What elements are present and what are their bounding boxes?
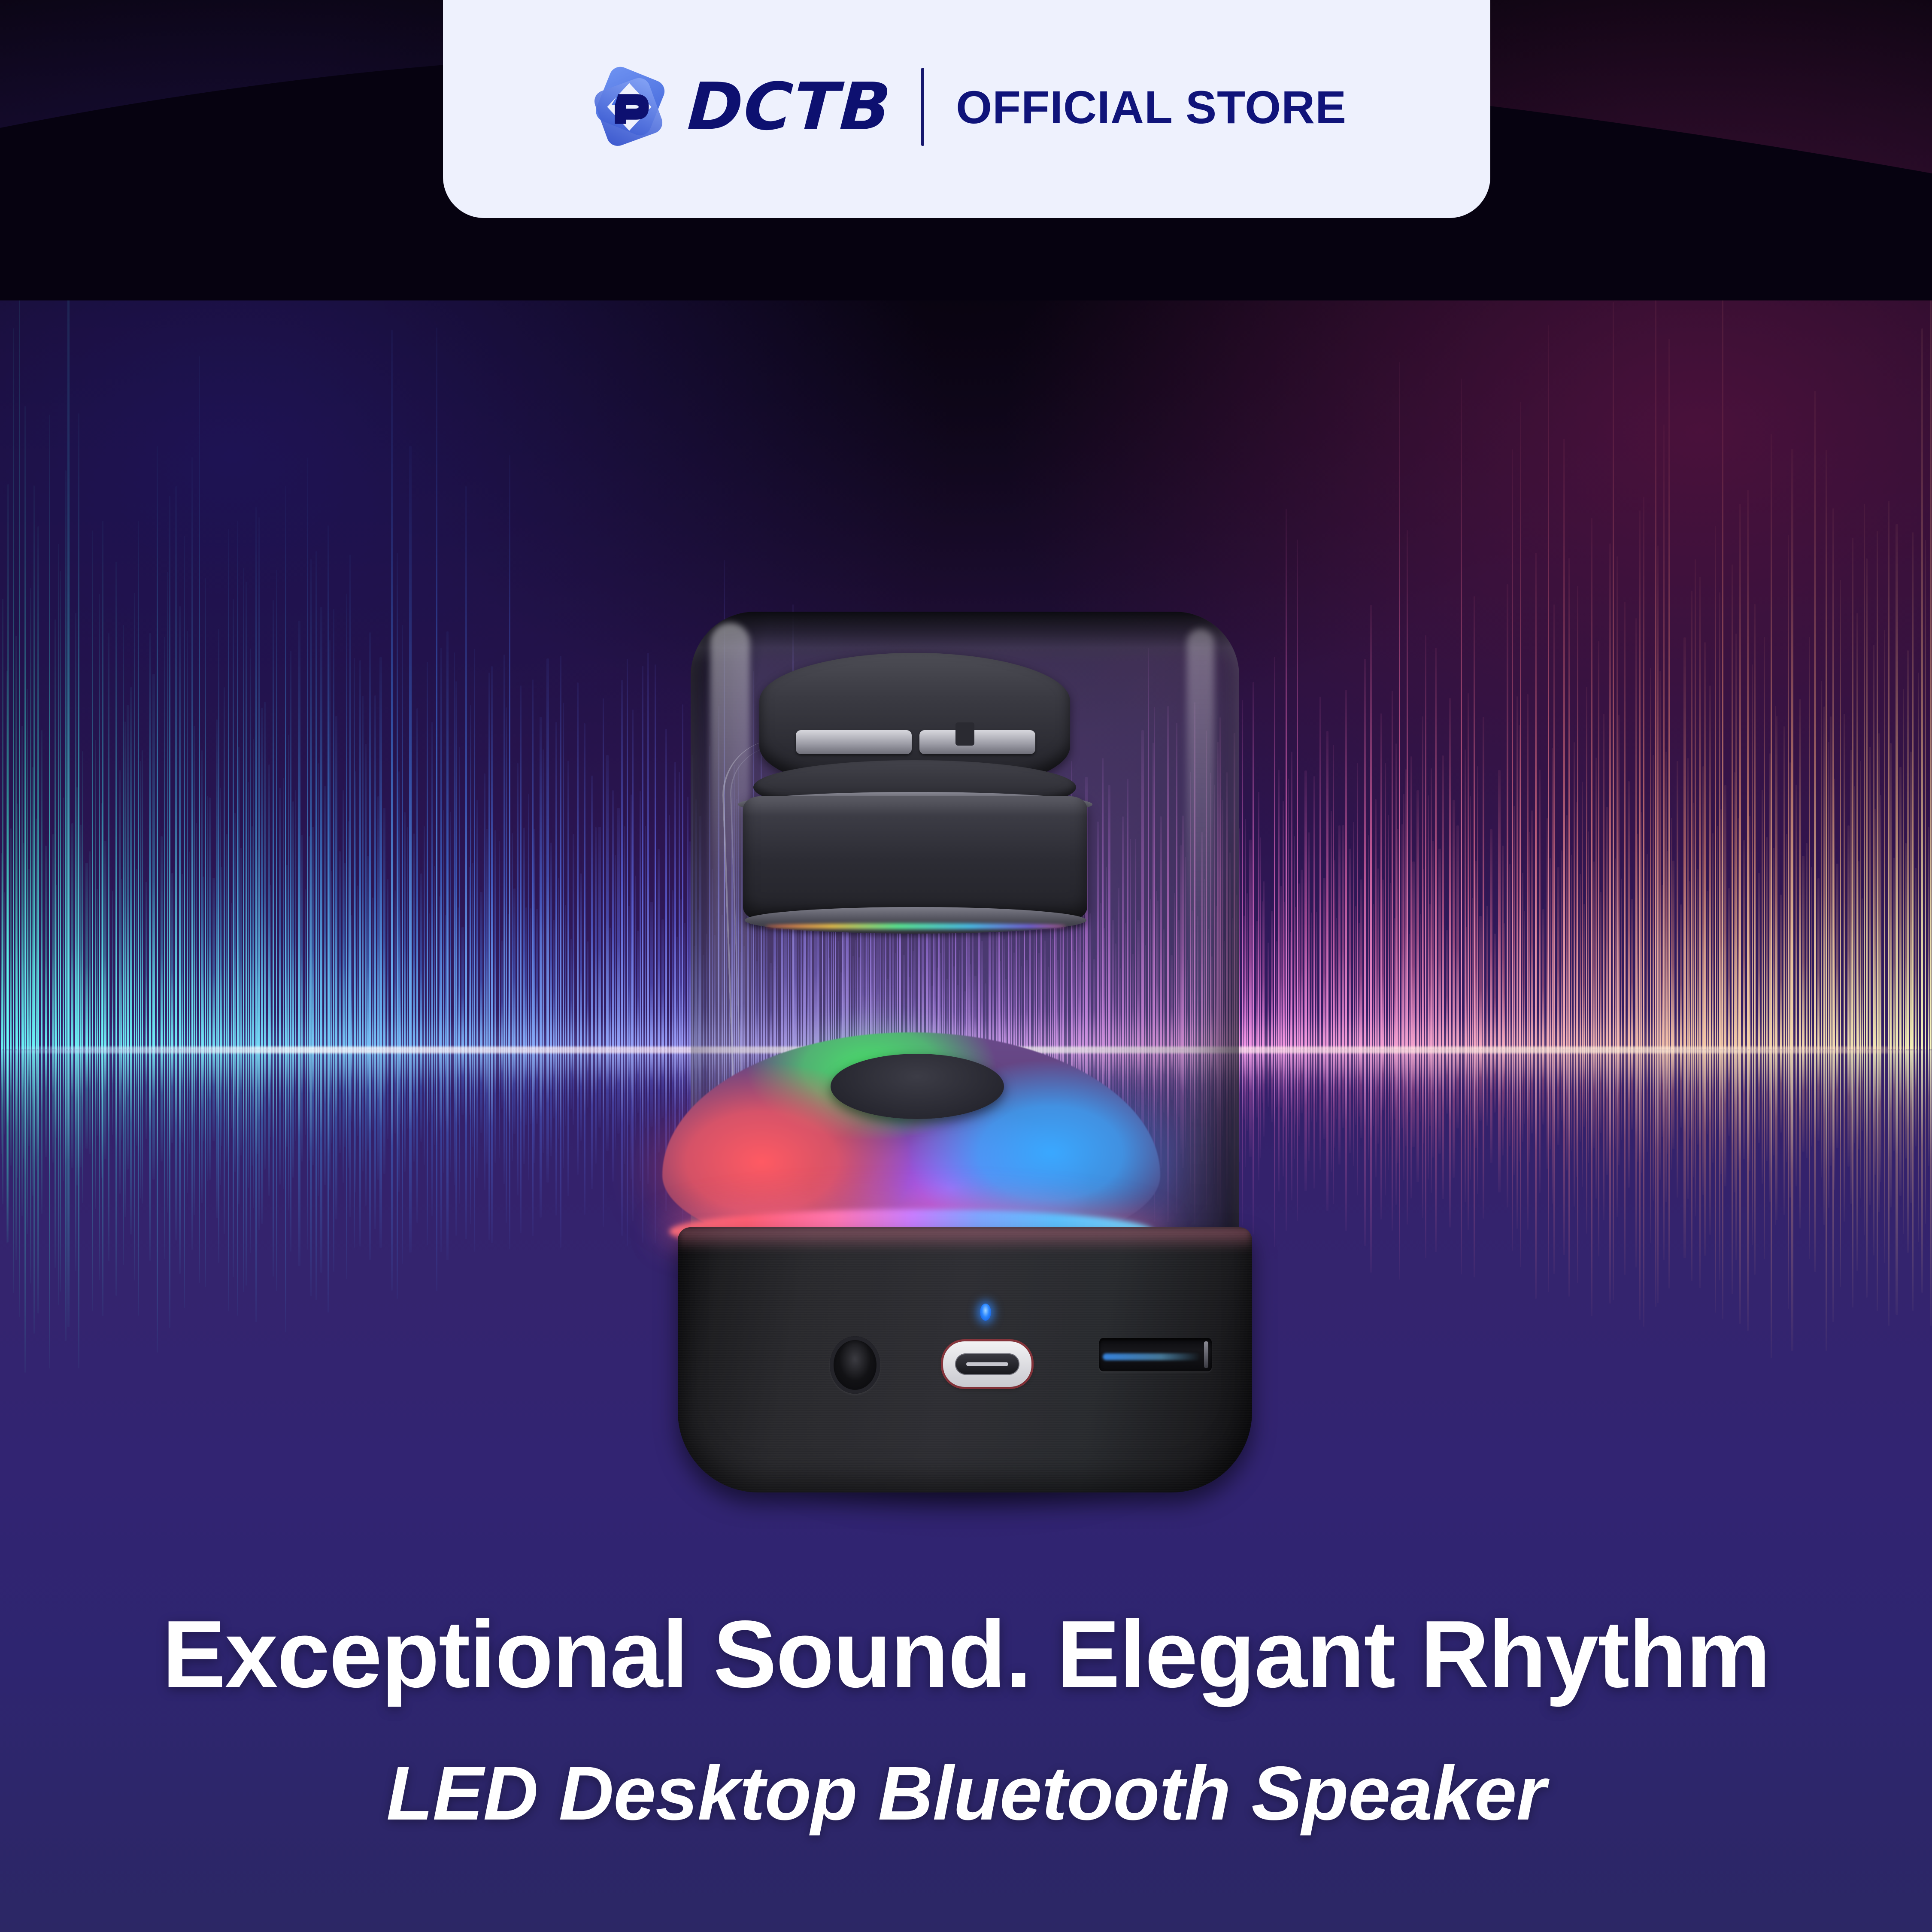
dctb-diamond-logo-icon	[587, 64, 672, 149]
bluetooth-speaker-product-image	[637, 612, 1293, 1509]
official-store-label: OFFICIAL STORE	[956, 80, 1347, 134]
driver-lower-band	[745, 907, 1086, 934]
page-title: Exceptional Sound. Elegant Rhythm	[0, 1603, 1932, 1706]
driver-chromatic-edge	[765, 923, 1066, 929]
driver-vent-grilles	[765, 720, 1066, 764]
driver-magnet-body	[743, 796, 1087, 920]
bluetooth-status-led	[980, 1304, 991, 1321]
product-banner: DCTB OFFICIAL STORE	[0, 0, 1932, 1932]
shell-right-highlight	[1187, 629, 1214, 1238]
sd-card-slot-icon[interactable]	[1099, 1338, 1212, 1371]
base-top-glow	[678, 1227, 1252, 1251]
store-header-pill: DCTB OFFICIAL STORE	[443, 0, 1490, 218]
page-subtitle: LED Desktop Bluetooth Speaker	[0, 1751, 1932, 1835]
driver-center-pin	[955, 722, 974, 746]
sd-card-slot-edge	[1204, 1341, 1208, 1368]
bass-port-opening	[831, 1054, 1004, 1119]
usb-c-port-icon[interactable]	[943, 1341, 1031, 1387]
aux-port-icon[interactable]	[830, 1336, 880, 1394]
usb-c-port-tongue	[966, 1362, 1008, 1366]
vertical-divider-icon	[921, 68, 924, 146]
brand-wordmark: DCTB	[686, 74, 893, 140]
brand-lockup[interactable]: DCTB	[587, 64, 889, 149]
